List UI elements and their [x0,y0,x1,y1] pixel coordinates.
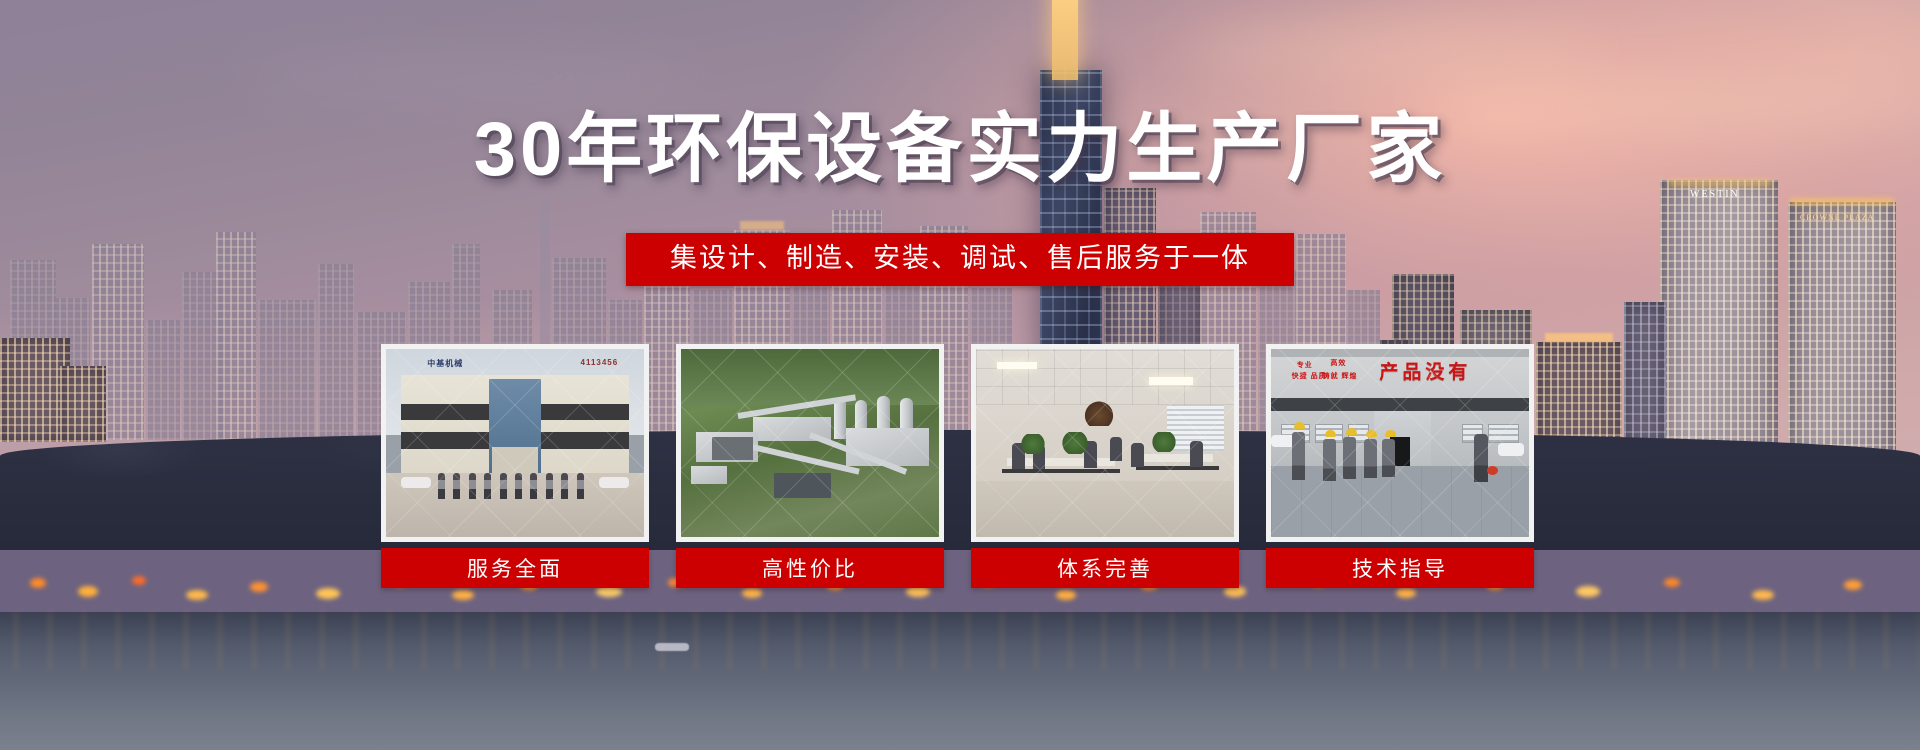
building [146,320,180,440]
page-title: 30年环保设备实力生产厂家 [0,112,1920,188]
feature-card: 体系完善 [971,344,1239,588]
roof-light-strip [1790,199,1894,204]
factory-slogan-label: 快捷 品质 [1292,373,1327,382]
zifeng-tower-crown [1052,0,1078,80]
feature-card[interactable]: 产品没有 专业 快捷 品质 高效 铸就 辉煌 [1266,344,1534,588]
feature-card-caption: 体系完善 [971,548,1239,588]
building [258,300,316,440]
subtitle-text: 集设计、制造、安装、调试、售后服务于一体 [670,244,1250,273]
building [318,264,354,440]
company-headquarters-photo: 中基机械 4113456 [381,344,649,542]
feature-card-list: 中基机械 4113456 服务全面 [381,344,1534,588]
building-phone-label: 4113456 [581,358,619,367]
crowne-plaza-tower [1788,202,1896,470]
feature-card-caption: 技术指导 [1266,548,1534,588]
factory-slogan-label: 铸就 辉煌 [1323,373,1358,382]
subtitle-badge: 集设计、制造、安装、调试、售后服务于一体 [626,233,1294,286]
wall-emblem [1082,400,1116,426]
production-plant-aerial-photo [676,344,944,542]
westin-sign-label: WESTIN [1690,189,1740,200]
boat [655,643,689,651]
supervisor [1474,434,1488,482]
hard-hat [1294,422,1305,429]
hard-hat [1385,430,1396,437]
factory-slogan-label: 高效 [1330,360,1346,369]
hero-banner: WESTIN CROWNE PLAZA [0,0,1920,750]
worker [1382,439,1395,477]
river-water [0,612,1920,750]
office-interior-photo [971,344,1239,542]
worker [1292,432,1305,480]
hard-hat [1325,430,1336,437]
building-signage-label: 中基机械 [427,358,463,369]
factory-banner-label: 产品没有 [1379,357,1471,384]
factory-slogan-label: 专业 [1297,362,1313,371]
red-helmet [1487,466,1498,475]
building [216,232,256,440]
building [1624,302,1666,460]
water-reflections [0,612,1920,670]
worker [1364,439,1377,478]
worker [1343,437,1356,479]
worker [1323,439,1336,481]
hard-hat [1346,428,1357,435]
feature-card-caption: 服务全面 [381,548,649,588]
westin-tower [1660,180,1778,470]
crowne-plaza-sign-label: CROWNE PLAZA [1800,213,1874,222]
workshop-workers-photo: 产品没有 专业 快捷 品质 高效 铸就 辉煌 [1266,344,1534,542]
feature-card[interactable]: 中基机械 4113456 服务全面 [381,344,649,588]
building [60,366,106,442]
feature-card-caption: 高性价比 [676,548,944,588]
feature-card[interactable]: 高性价比 [676,344,944,588]
